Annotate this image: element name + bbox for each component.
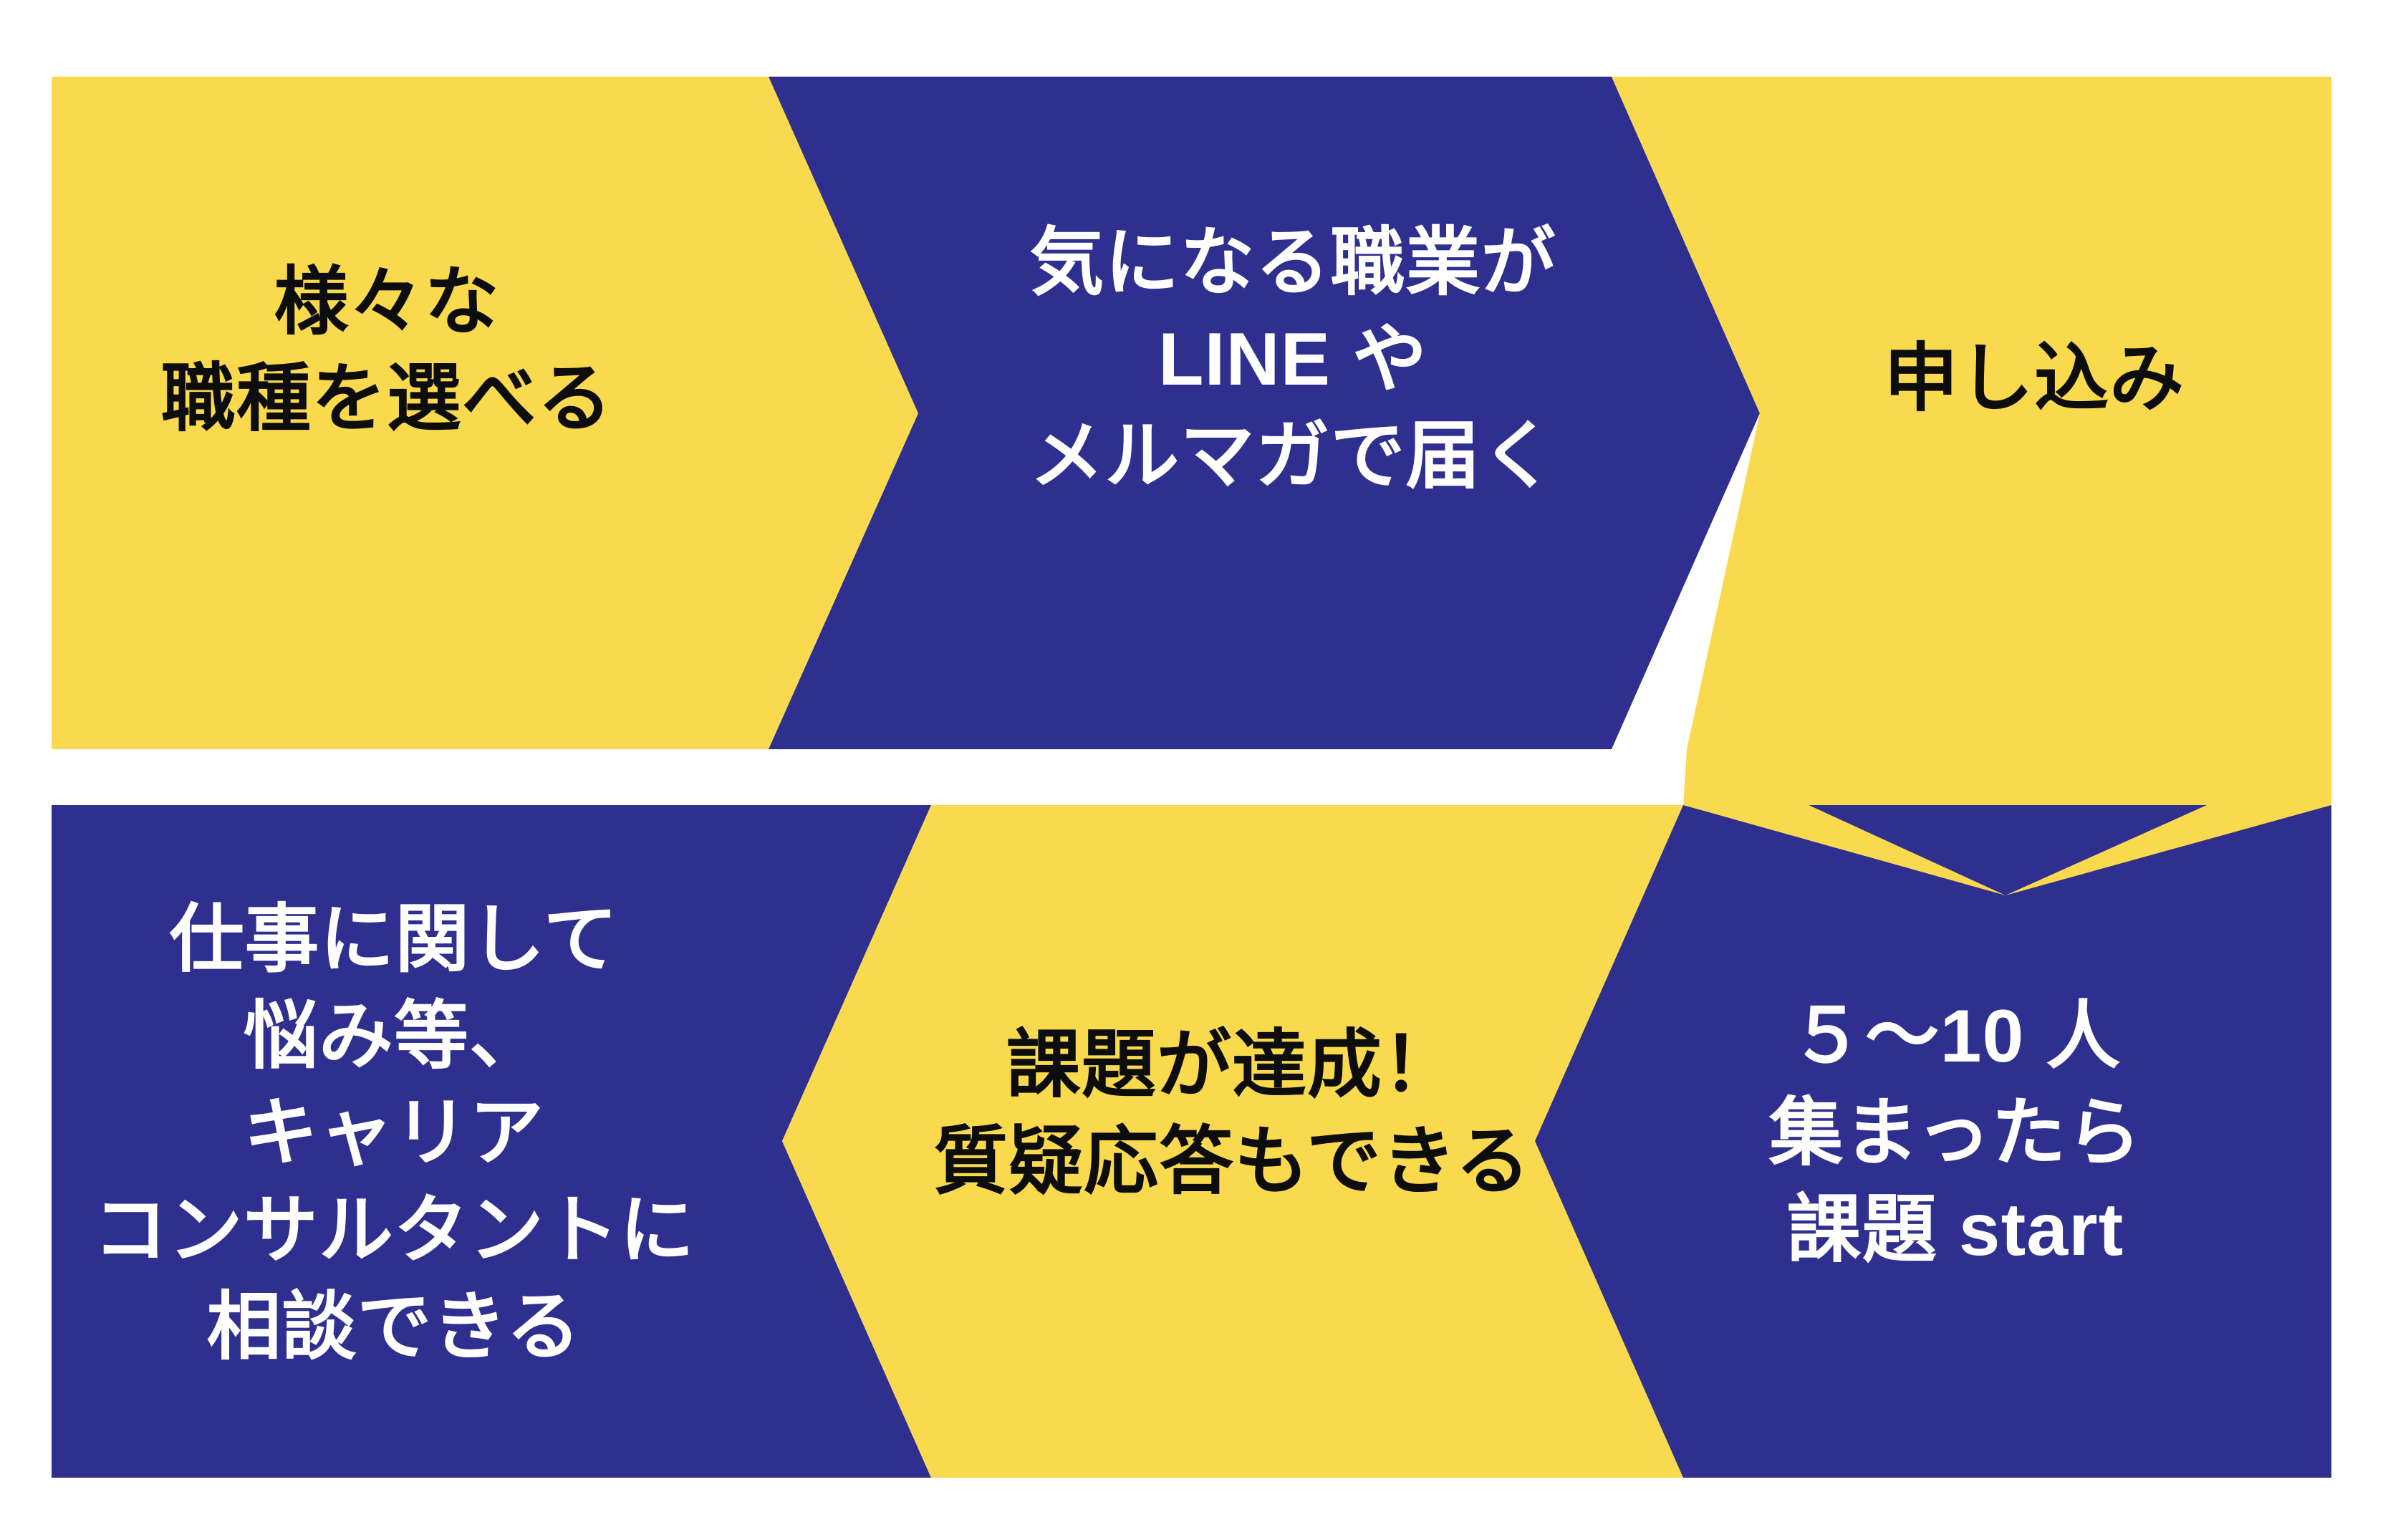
flow-diagram: 様々な 職種を選べる 気になる職業が LINE や メルマガで届く 申し込み 仕… (0, 0, 2388, 1540)
shape-step-4[interactable] (1535, 805, 2331, 1478)
flow-shapes (0, 0, 2388, 1540)
shape-step-1[interactable] (52, 77, 918, 749)
